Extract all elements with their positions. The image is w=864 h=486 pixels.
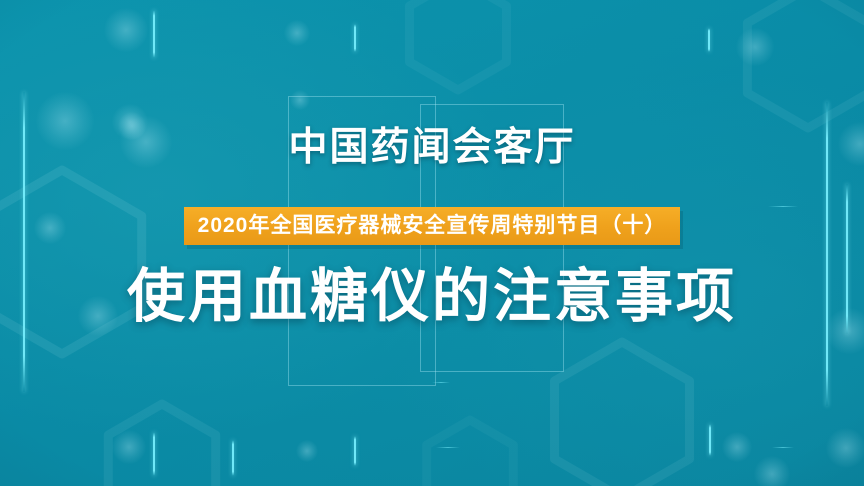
subtitle-banner: 2020年全国医疗器械安全宣传周特别节目（十） [184, 207, 681, 245]
episode-headline: 使用血糖仪的注意事项 [0, 249, 864, 333]
slide-content: 中国药闻会客厅 2020年全国医疗器械安全宣传周特别节目（十） 使用血糖仪的注意… [0, 0, 864, 486]
title-slide: 中国药闻会客厅 2020年全国医疗器械安全宣传周特别节目（十） 使用血糖仪的注意… [0, 0, 864, 486]
program-title: 中国药闻会客厅 [0, 116, 864, 172]
subtitle-banner-wrap: 2020年全国医疗器械安全宣传周特别节目（十） [0, 207, 864, 245]
